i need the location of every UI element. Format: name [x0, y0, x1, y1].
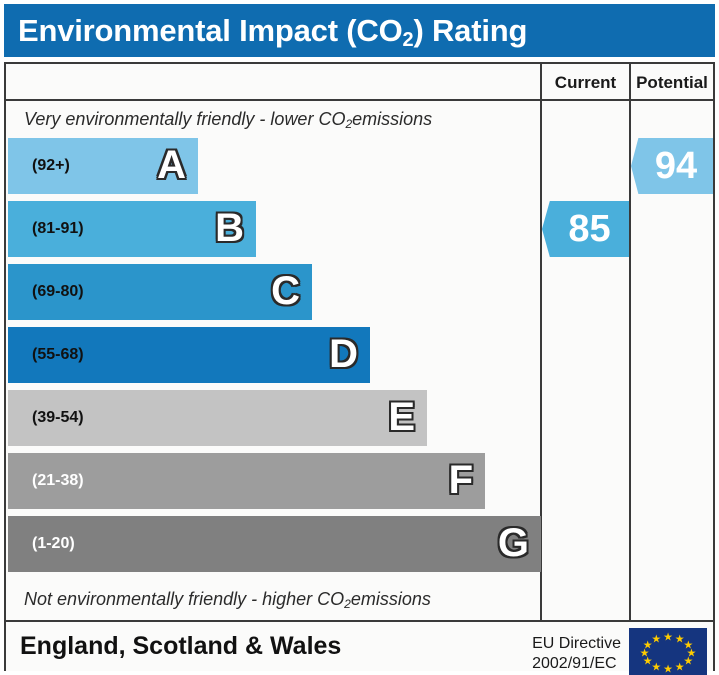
- band-range-label: (21-38): [8, 472, 84, 490]
- eu-directive-block: EU Directive 2002/91/EC ★★★★★★★★★★★★: [532, 628, 707, 675]
- band-range-label: (1-20): [8, 535, 75, 553]
- band-range-label: (69-80): [8, 283, 84, 301]
- eu-flag-icon: ★★★★★★★★★★★★: [629, 628, 707, 675]
- chart-title-bar: Environmental Impact (CO2) Rating: [4, 4, 715, 57]
- eu-directive-line2: 2002/91/EC: [532, 654, 621, 674]
- footer-bar: England, Scotland & Wales EU Directive 2…: [6, 622, 713, 671]
- caption-bottom-prefix: Not environmentally friendly - higher CO: [24, 589, 344, 610]
- column-header-current: Current: [542, 66, 629, 99]
- caption-bottom-subscript: 2: [344, 597, 351, 611]
- rating-bands: (92+)A(81-91)B(69-80)C(55-68)D(39-54)E(2…: [8, 138, 540, 581]
- rating-band-a: (92+)A: [8, 138, 198, 194]
- band-letter-c: C: [271, 271, 300, 311]
- band-letter-a: A: [157, 145, 186, 185]
- eu-flag-star: ★: [663, 664, 673, 675]
- band-range-label: (55-68): [8, 346, 84, 364]
- page-title-main: Environmental Impact (CO: [18, 13, 403, 48]
- caption-bottom: Not environmentally friendly - higher CO…: [8, 581, 540, 618]
- page-title-subscript: 2: [403, 29, 414, 51]
- rating-band-d: (55-68)D: [8, 327, 370, 383]
- page-title: Environmental Impact (CO2) Rating: [4, 13, 527, 49]
- band-range-label: (81-91): [8, 220, 84, 238]
- rating-band-b: (81-91)B: [8, 201, 256, 257]
- caption-top-suffix: emissions: [352, 109, 432, 130]
- eu-flag-star: ★: [651, 635, 661, 646]
- band-range-label: (92+): [8, 157, 70, 175]
- page-title-tail: ) Rating: [413, 13, 527, 48]
- rating-marker-current: 85: [542, 201, 629, 257]
- eu-flag-star: ★: [651, 662, 661, 673]
- rating-band-f: (21-38)F: [8, 453, 485, 509]
- footer-region-label: England, Scotland & Wales: [6, 632, 341, 661]
- rating-band-c: (69-80)C: [8, 264, 312, 320]
- band-range-label: (39-54): [8, 409, 84, 427]
- band-letter-f: F: [449, 460, 473, 500]
- potential-column-divider: [629, 64, 631, 620]
- rating-band-e: (39-54)E: [8, 390, 427, 446]
- eu-directive-text: EU Directive 2002/91/EC: [532, 634, 621, 674]
- eu-flag-star: ★: [675, 662, 685, 673]
- eu-flag-star: ★: [683, 656, 693, 667]
- caption-top: Very environmentally friendly - lower CO…: [8, 101, 540, 138]
- band-letter-d: D: [329, 334, 358, 374]
- band-letter-e: E: [388, 397, 415, 437]
- caption-top-prefix: Very environmentally friendly - lower CO: [24, 109, 345, 130]
- caption-bottom-suffix: emissions: [351, 589, 431, 610]
- band-letter-g: G: [498, 523, 529, 563]
- rating-band-g: (1-20)G: [8, 516, 541, 572]
- band-letter-b: B: [215, 208, 244, 248]
- caption-top-subscript: 2: [345, 117, 352, 131]
- chart-frame: Current Potential Very environmentally f…: [4, 62, 715, 671]
- eu-flag-star: ★: [663, 633, 673, 644]
- rating-marker-potential: 94: [631, 138, 713, 194]
- epc-environmental-impact-chart: Environmental Impact (CO2) Rating Curren…: [0, 0, 719, 675]
- eu-directive-line1: EU Directive: [532, 634, 621, 654]
- column-header-potential: Potential: [631, 66, 713, 99]
